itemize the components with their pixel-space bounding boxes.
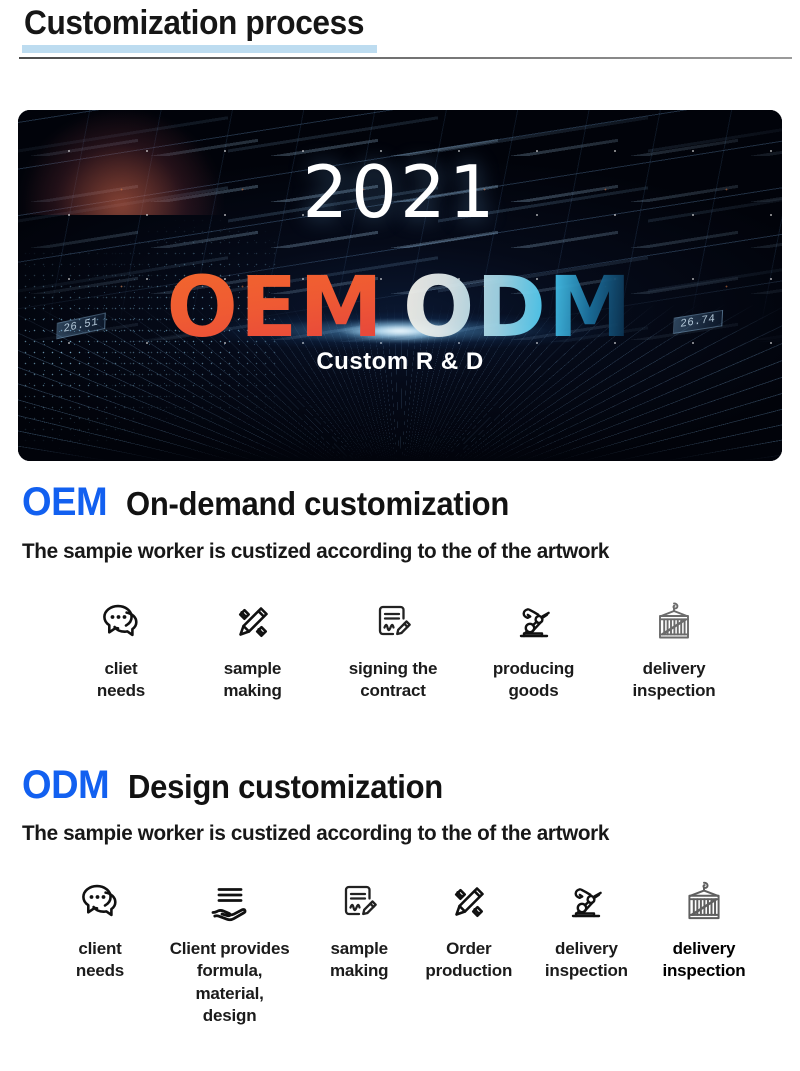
- step-cliet-needs: cliet needs: [62, 596, 180, 703]
- banner-odm-word: ODM: [403, 258, 634, 356]
- robot-arm-icon: [510, 596, 558, 648]
- banner-year: 2021: [18, 150, 782, 234]
- step-producing-goods: producing goods: [475, 596, 593, 703]
- crate-hook-icon: [680, 876, 728, 928]
- odm-description: The sampie worker is custized according …: [22, 822, 609, 846]
- robot-arm-icon: [562, 876, 610, 928]
- chat-bubbles-icon: [96, 596, 146, 648]
- step-sample-making: sample making: [194, 596, 312, 703]
- oem-description: The sampie worker is custized according …: [22, 540, 609, 564]
- step-label: signing the contract: [349, 658, 437, 703]
- banner-oem-word: OEM: [166, 258, 384, 356]
- step-delivery-inspection-robot: delivery inspection: [530, 876, 642, 983]
- banner-subtitle: Custom R & D: [18, 348, 782, 376]
- step-delivery-inspection-crate: delivery inspection: [648, 876, 760, 983]
- odm-section-heading: ODMDesign customization: [22, 763, 463, 808]
- step-label: delivery inspection: [662, 938, 745, 983]
- hero-banner: 26.51 26.74 2021 OEMODM Custom R & D: [18, 110, 782, 461]
- step-label: delivery inspection: [632, 658, 715, 703]
- header-divider-line: [19, 57, 792, 59]
- step-label: cliet needs: [97, 658, 145, 703]
- step-label: delivery inspection: [545, 938, 628, 983]
- hand-documents-icon: [205, 876, 255, 928]
- oem-badge: OEM: [22, 480, 107, 525]
- step-label: producing goods: [493, 658, 574, 703]
- oem-title: On-demand customization: [126, 485, 509, 523]
- step-order-production: Order production: [413, 876, 525, 983]
- contract-signing-icon: [370, 596, 416, 648]
- page-header: Customization process: [0, 0, 800, 78]
- crate-hook-icon: [651, 596, 697, 648]
- page-title: Customization process: [24, 4, 364, 43]
- oem-section-heading: OEMOn-demand customization: [22, 480, 533, 525]
- contract-signing-icon: [336, 876, 382, 928]
- step-label: sample making: [223, 658, 281, 703]
- step-label: client needs: [76, 938, 124, 983]
- customization-process-page: Customization process 26.51 26.74 2021 O…: [0, 0, 800, 1071]
- title-underline-bar: [22, 45, 377, 53]
- step-signing-contract: signing the contract: [325, 596, 461, 703]
- pencil-ruler-icon: [230, 596, 276, 648]
- odm-steps-row: client needs Client provides formula, ma…: [52, 876, 760, 1028]
- step-label: Client provides formula, material, desig…: [170, 938, 290, 1028]
- odm-badge: ODM: [22, 763, 109, 808]
- pencil-ruler-icon: [446, 876, 492, 928]
- banner-text-block: 2021 OEMODM Custom R & D: [18, 110, 782, 461]
- banner-acronyms: OEMODM: [18, 258, 782, 356]
- step-label: sample making: [330, 938, 388, 983]
- step-client-provides: Client provides formula, material, desig…: [154, 876, 306, 1028]
- step-delivery-inspection: delivery inspection: [606, 596, 742, 703]
- oem-steps-row: cliet needs sample making: [62, 596, 742, 703]
- step-client-needs: client needs: [52, 876, 148, 983]
- chat-bubbles-icon: [75, 876, 125, 928]
- step-sample-making-odm: sample making: [311, 876, 407, 983]
- odm-title: Design customization: [128, 768, 443, 806]
- step-label: Order production: [425, 938, 512, 983]
